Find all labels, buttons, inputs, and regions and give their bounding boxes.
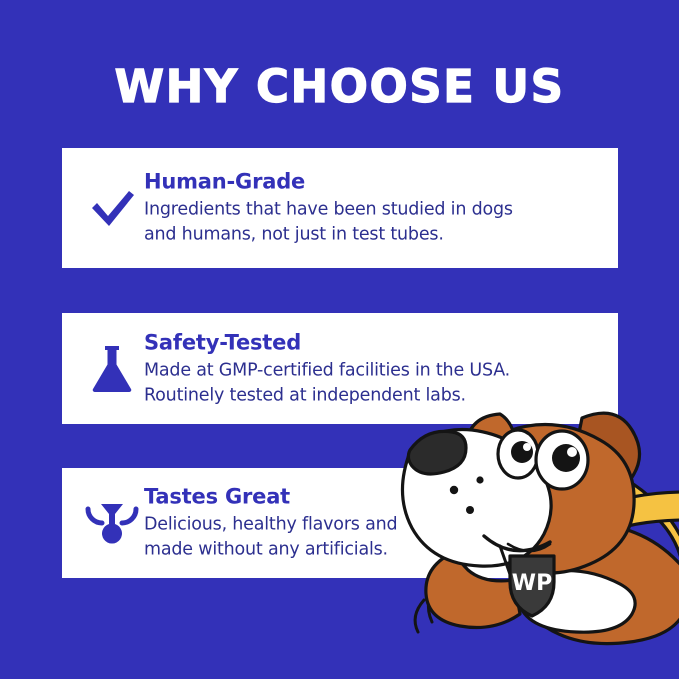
description-line: Ingredients that have been studied in do… [144, 198, 602, 223]
checkmark-icon [80, 176, 144, 240]
feature-card-title: Safety-Tested [144, 329, 602, 355]
feature-card-text: Human-Grade Ingredients that have been s… [144, 169, 602, 248]
page-title: WHY CHOOSE US [0, 62, 679, 112]
description-line: Made at GMP-certified facilities in the … [144, 358, 602, 383]
feature-card-description: Ingredients that have been studied in do… [144, 198, 602, 248]
flask-icon [80, 337, 144, 401]
feature-card-description: Delicious, healthy flavors and made with… [144, 513, 602, 563]
feature-card-human-grade: Human-Grade Ingredients that have been s… [62, 148, 618, 268]
feature-card-tastes-great: Tastes Great Delicious, healthy flavors … [62, 468, 618, 578]
description-line: and humans, not just in test tubes. [144, 223, 602, 248]
feature-card-description: Made at GMP-certified facilities in the … [144, 358, 602, 408]
poster-canvas: WHY CHOOSE US Human-Grade Ingredients th… [0, 0, 679, 679]
description-line: Delicious, healthy flavors and [144, 513, 602, 538]
feature-card-text: Tastes Great Delicious, healthy flavors … [144, 484, 602, 563]
description-line: made without any artificials. [144, 538, 602, 563]
description-line: Routinely tested at independent labs. [144, 383, 602, 408]
tongue-icon [80, 491, 144, 555]
feature-card-title: Human-Grade [144, 169, 602, 195]
feature-card-title: Tastes Great [144, 484, 602, 510]
feature-card-text: Safety-Tested Made at GMP-certified faci… [144, 329, 602, 408]
feature-card-safety-tested: Safety-Tested Made at GMP-certified faci… [62, 313, 618, 424]
